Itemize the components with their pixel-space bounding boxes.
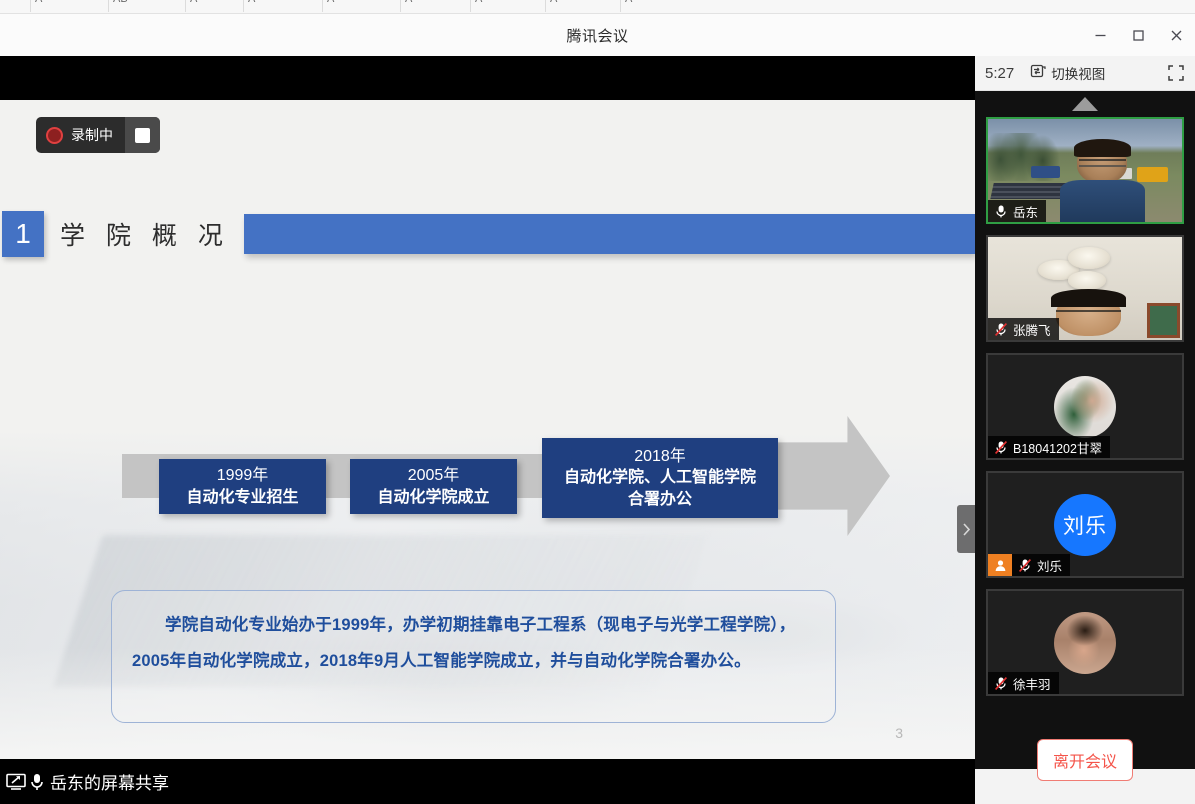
participant-name: 刘乐	[1037, 556, 1062, 575]
microphone-icon	[994, 204, 1008, 219]
milestone-year: 2018年	[634, 446, 686, 468]
minimize-icon[interactable]	[1081, 14, 1119, 56]
milestone-desc-line2: 合署办公	[628, 489, 692, 511]
milestone-year: 2005年	[408, 465, 460, 487]
ribbon-group: A	[185, 0, 197, 12]
participants-panel: 5:27 切换视图	[975, 56, 1195, 804]
close-icon[interactable]	[1157, 14, 1195, 56]
microphone-muted-icon	[1018, 558, 1032, 573]
ribbon-group: A	[470, 0, 482, 12]
participant-name-chip: 徐丰羽	[988, 672, 1059, 694]
switch-view-label: 切换视图	[1051, 63, 1105, 83]
recording-label: 录制中	[71, 125, 113, 145]
ribbon-group: A	[30, 0, 42, 12]
slide-section-header: 1 学 院 概 况	[0, 204, 975, 264]
participant-name: 徐丰羽	[1013, 674, 1051, 693]
timeline-milestone: 1999年 自动化专业招生	[159, 459, 326, 514]
presentation-slide: 1 学 院 概 况 1999年 自动化专业招生	[0, 100, 975, 759]
share-status-text: 岳东的屏幕共享	[50, 769, 169, 794]
participant-name: B18041202甘翠	[1013, 438, 1102, 457]
participant-tile[interactable]: 岳东	[986, 117, 1184, 224]
ribbon-group: AB	[108, 0, 128, 12]
maximize-icon[interactable]	[1119, 14, 1157, 56]
microphone-muted-icon	[994, 676, 1008, 691]
ribbon-group: A	[243, 0, 255, 12]
meeting-timer: 5:27	[981, 65, 1018, 82]
participant-tile[interactable]: 徐丰羽	[986, 589, 1184, 696]
participant-tiles-region[interactable]: 岳东	[975, 91, 1195, 769]
screen-share-area: 1 学 院 概 况 1999年 自动化专业招生	[0, 56, 975, 804]
panel-toolbar: 5:27 切换视图	[975, 56, 1195, 91]
participant-tile[interactable]: 刘乐	[986, 471, 1184, 578]
participant-name-chip: B18041202甘翠	[988, 436, 1110, 458]
stop-recording-button[interactable]	[125, 117, 160, 153]
style-gallery-item: AaBbC AaBbC	[800, 0, 866, 10]
milestone-desc: 自动化学院、人工智能学院	[564, 467, 756, 489]
avatar: 刘乐	[1054, 494, 1116, 556]
title-bar[interactable]: 腾讯会议	[0, 14, 1195, 56]
participant-name: 张腾飞	[1013, 320, 1051, 339]
page-title: 学 院 概 况	[60, 216, 230, 252]
avatar	[1054, 376, 1116, 438]
header-accent-bar	[244, 214, 975, 254]
avatar	[1054, 612, 1116, 674]
section-number: 1	[2, 211, 44, 257]
milestone-desc: 自动化专业招生	[186, 487, 298, 509]
avatar-initials: 刘乐	[1063, 510, 1107, 540]
participant-name-chip: 张腾飞	[988, 318, 1059, 340]
style-gallery-item: AaBbCc	[880, 0, 931, 10]
screen-share-icon	[6, 773, 28, 791]
scroll-up-caret-icon[interactable]	[975, 93, 1195, 115]
meeting-window: 腾讯会议 1 学 院 概 况	[0, 14, 1195, 804]
participant-tile[interactable]: B18041202甘翠	[986, 353, 1184, 460]
style-gallery-item: AaBbCc	[1040, 0, 1091, 10]
window-controls	[1081, 14, 1195, 56]
switch-view-button[interactable]: 切换视图	[1026, 61, 1109, 85]
window-title: 腾讯会议	[566, 25, 628, 46]
background-app-ribbon: A AB A A A A A A A AaBbC AaBbC AaBbC AaB…	[0, 0, 1195, 14]
timeline-milestone: 2005年 自动化学院成立	[350, 459, 517, 514]
milestone-desc: 自动化学院成立	[377, 487, 489, 509]
ribbon-group: A	[322, 0, 334, 12]
recording-indicator[interactable]: 录制中	[36, 117, 160, 153]
shared-content-stage[interactable]: 1 学 院 概 况 1999年 自动化专业招生	[0, 100, 975, 759]
microphone-muted-icon	[994, 322, 1008, 337]
ribbon-group: A	[545, 0, 557, 12]
chevron-right-icon[interactable]	[957, 505, 975, 553]
microphone-muted-icon	[994, 440, 1008, 455]
timeline-milestone: 2018年 自动化学院、人工智能学院 合署办公	[542, 438, 778, 518]
microphone-icon	[28, 772, 46, 792]
milestone-year: 1999年	[217, 465, 269, 487]
participant-name: 岳东	[1013, 202, 1038, 221]
participant-name-chip: 刘乐	[1012, 554, 1070, 576]
style-gallery-item: AaBbC AaBbC	[710, 0, 776, 10]
ribbon-group: A	[400, 0, 412, 12]
window-body: 1 学 院 概 况 1999年 自动化专业招生	[0, 56, 1195, 804]
slide-note-text: 学院自动化专业始办于1999年，办学初期挂靠电子工程系（现电子与光学工程学院），…	[132, 607, 811, 679]
leave-meeting-area: 离开会议	[975, 769, 1195, 804]
host-badge	[988, 554, 1012, 576]
ribbon-group: A	[620, 0, 632, 12]
style-gallery-item: AaBbCc	[960, 0, 1011, 10]
timeline-graphic: 1999年 自动化专业招生 2005年 自动化学院成立 2018年 自动化学院、…	[0, 400, 975, 550]
slide-page-number: 3	[895, 725, 903, 741]
slide-note-panel: 学院自动化专业始办于1999年，办学初期挂靠电子工程系（现电子与光学工程学院），…	[111, 590, 836, 723]
participant-name-chip: 岳东	[988, 200, 1046, 222]
style-gallery-item: AaBbC	[1130, 0, 1162, 10]
timeline-head-arrow	[778, 416, 890, 536]
participant-tile[interactable]: 张腾飞	[986, 235, 1184, 342]
leave-meeting-button[interactable]: 离开会议	[1037, 739, 1133, 781]
record-dot-icon	[46, 127, 63, 144]
share-status-bar: 岳东的屏幕共享	[0, 759, 975, 804]
fullscreen-button[interactable]	[1167, 64, 1189, 82]
switch-view-icon	[1030, 64, 1046, 83]
